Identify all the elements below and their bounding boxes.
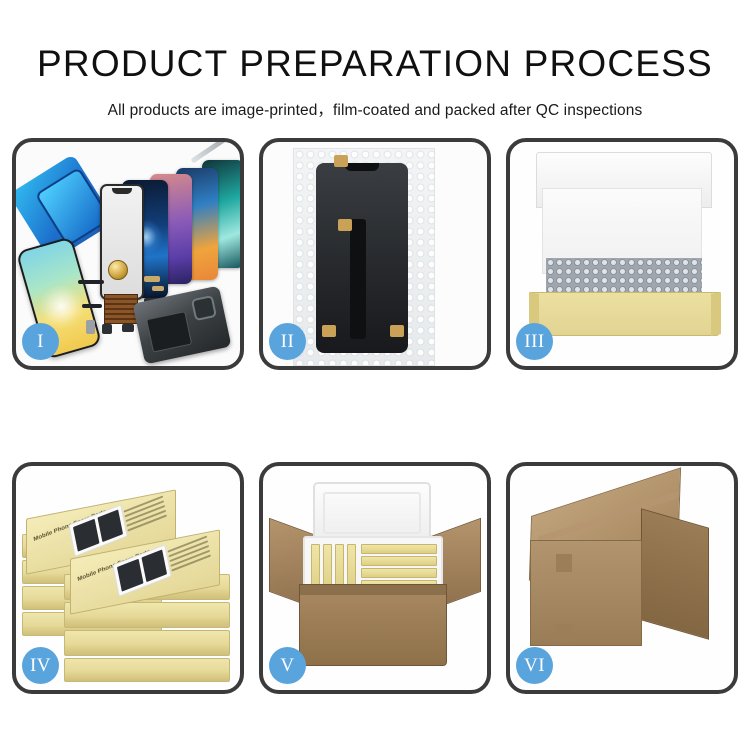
product-preparation-page: PRODUCT PREPARATION PROCESS All products… bbox=[0, 0, 750, 750]
vibrator-part bbox=[122, 324, 134, 332]
box-product-thumbnails bbox=[112, 544, 171, 597]
step-badge-1: I bbox=[22, 323, 59, 360]
adhesive-tape bbox=[322, 325, 336, 337]
header: PRODUCT PREPARATION PROCESS All products… bbox=[0, 0, 750, 120]
flex-cable-part bbox=[78, 280, 104, 284]
process-panel-5: V bbox=[259, 462, 491, 694]
step-badge-6: VI bbox=[516, 647, 553, 684]
step-badge-3: III bbox=[516, 323, 553, 360]
kraft-carton-open bbox=[299, 584, 447, 666]
stacked-box bbox=[64, 658, 230, 682]
process-panel-1: I bbox=[12, 138, 244, 370]
foam-box-lid bbox=[313, 482, 431, 544]
carton-tape-tab bbox=[556, 554, 572, 572]
process-panel-4: Mobile Phone Spare Parts Mobile Phone Sp… bbox=[12, 462, 244, 694]
process-grid: I II bbox=[12, 138, 738, 694]
page-subtitle: All products are image-printed，film-coat… bbox=[0, 98, 750, 120]
yellow-box-item bbox=[361, 544, 437, 554]
carton-tape-tab bbox=[556, 624, 572, 642]
step-badge-5: V bbox=[269, 647, 306, 684]
yellow-box-item bbox=[361, 556, 437, 566]
connector-part bbox=[144, 276, 160, 282]
process-panel-2: II bbox=[259, 138, 491, 370]
process-panel-6: VI bbox=[506, 462, 738, 694]
box-stack: Mobile Phone Spare Parts Mobile Phone Sp… bbox=[22, 482, 240, 682]
stacked-box bbox=[64, 630, 230, 656]
yellow-box-item bbox=[361, 568, 437, 578]
step-badge-4: IV bbox=[22, 647, 59, 684]
connector-part bbox=[152, 286, 164, 291]
process-panel-3: III bbox=[506, 138, 738, 370]
yellow-box-base bbox=[530, 292, 720, 336]
page-title: PRODUCT PREPARATION PROCESS bbox=[0, 45, 750, 82]
speaker-part bbox=[102, 324, 112, 334]
adhesive-tape bbox=[390, 325, 404, 337]
bubble-wrap-bag bbox=[293, 148, 435, 366]
step-badge-2: II bbox=[269, 323, 306, 360]
box-spec-list bbox=[168, 536, 215, 589]
carton-side-face bbox=[641, 508, 709, 639]
adhesive-tape bbox=[338, 219, 352, 231]
carton-front-face bbox=[530, 540, 642, 646]
battery-part bbox=[86, 320, 95, 334]
flex-cable-part bbox=[82, 304, 102, 308]
adhesive-tape bbox=[334, 155, 348, 167]
